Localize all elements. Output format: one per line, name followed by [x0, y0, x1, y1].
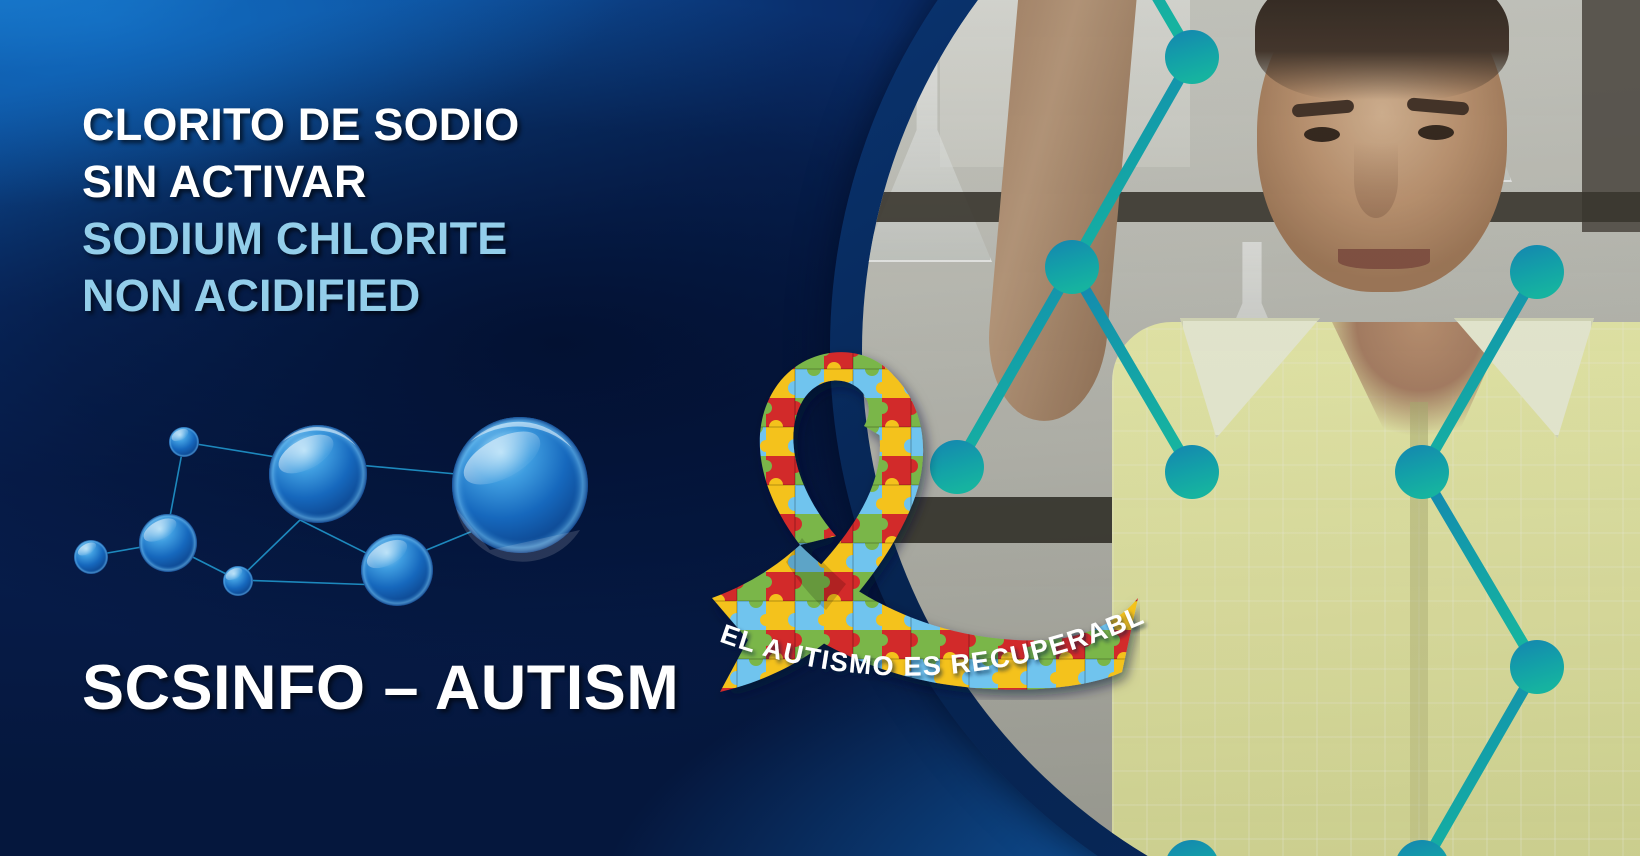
headline-english-line-1: SODIUM CHLORITE — [82, 210, 742, 267]
headline-spanish-line-2: SIN ACTIVAR — [82, 153, 742, 210]
molecule-spheres-icon — [60, 380, 620, 630]
ribbon-caption-text: EL AUTISMO ES RECUPERABLE!! — [700, 590, 1149, 682]
headline-block: CLORITO DE SODIO SIN ACTIVAR SODIUM CHLO… — [82, 96, 742, 324]
molecule-sphere-medium-left — [139, 514, 197, 572]
molecule-sphere-large-center — [269, 425, 367, 523]
headline-spanish-line-1: CLORITO DE SODIO — [82, 96, 742, 153]
brand-title: SCSINFO – AUTISM — [82, 650, 679, 726]
molecule-sphere-tiny-left — [74, 540, 108, 574]
molecule-sphere-medium-right — [361, 534, 433, 606]
headline-english-line-2: NON ACIDIFIED — [82, 267, 742, 324]
banner-root: CLORITO DE SODIO SIN ACTIVAR SODIUM CHLO… — [0, 0, 1640, 856]
molecule-sphere-tiny-top — [169, 426, 199, 457]
molecule-sphere-largest-right — [452, 417, 588, 562]
ribbon-caption: EL AUTISMO ES RECUPERABLE!! — [700, 590, 1170, 730]
